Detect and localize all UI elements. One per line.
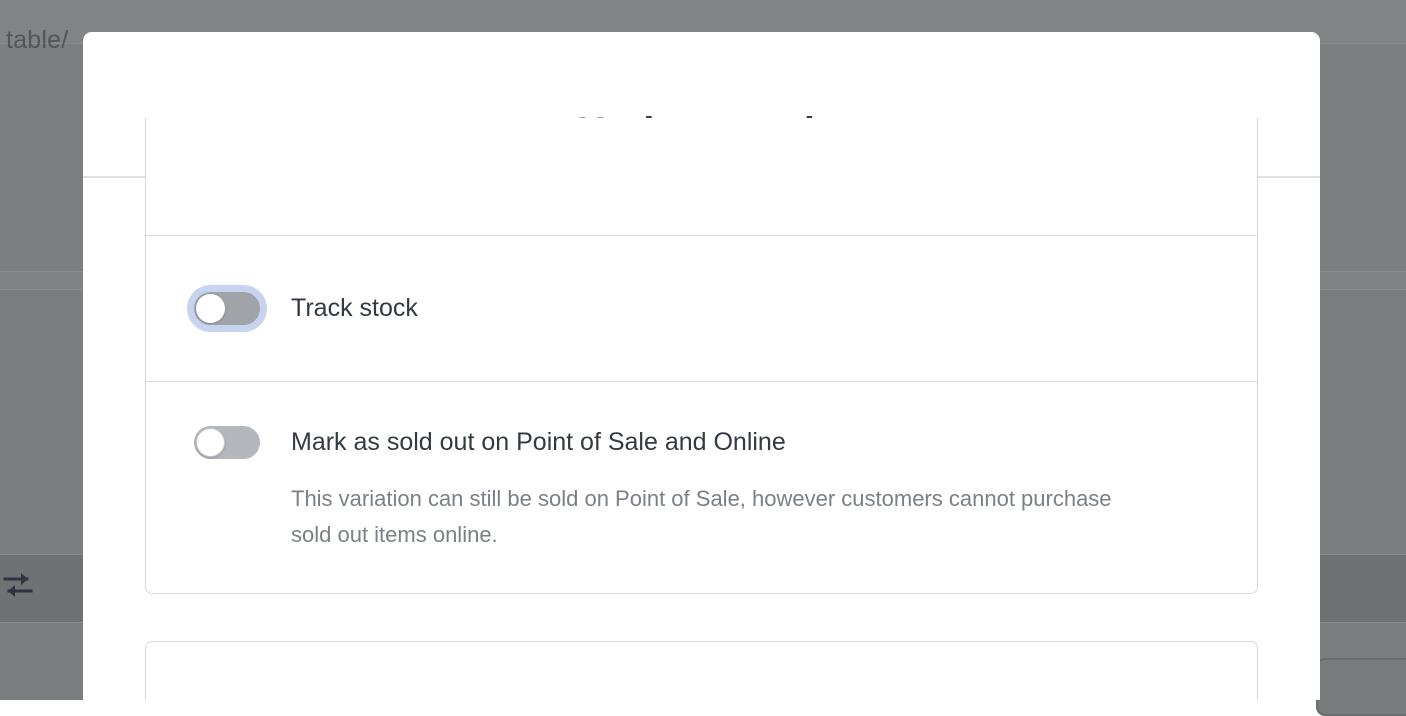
mark-sold-out-description: This variation can still be sold on Poin… bbox=[291, 481, 1129, 553]
track-stock-label: Track stock bbox=[291, 294, 418, 323]
background-table-label: table/ bbox=[6, 26, 68, 55]
transfer-arrows-icon bbox=[3, 568, 33, 602]
card-section-track-stock[interactable]: Track stock bbox=[146, 236, 1257, 382]
update-stock-modal: Update stock Track stock Mark as sold ou… bbox=[83, 32, 1320, 700]
card-section-sold-out[interactable]: Mark as sold out on Point of Sale and On… bbox=[146, 382, 1257, 593]
modal-body: Track stock Mark as sold out on Point of… bbox=[83, 178, 1320, 698]
secondary-card bbox=[145, 641, 1258, 700]
toggle-knob bbox=[196, 294, 225, 323]
background-card bbox=[1316, 658, 1406, 716]
track-stock-toggle[interactable] bbox=[194, 292, 260, 325]
mark-sold-out-label: Mark as sold out on Point of Sale and On… bbox=[291, 428, 786, 457]
toggle-knob bbox=[196, 428, 225, 457]
stock-settings-card: Track stock Mark as sold out on Point of… bbox=[145, 118, 1258, 594]
mark-sold-out-toggle[interactable] bbox=[194, 426, 260, 459]
sold-out-row[interactable]: Mark as sold out on Point of Sale and On… bbox=[194, 426, 1209, 459]
card-section-partial bbox=[146, 118, 1257, 236]
